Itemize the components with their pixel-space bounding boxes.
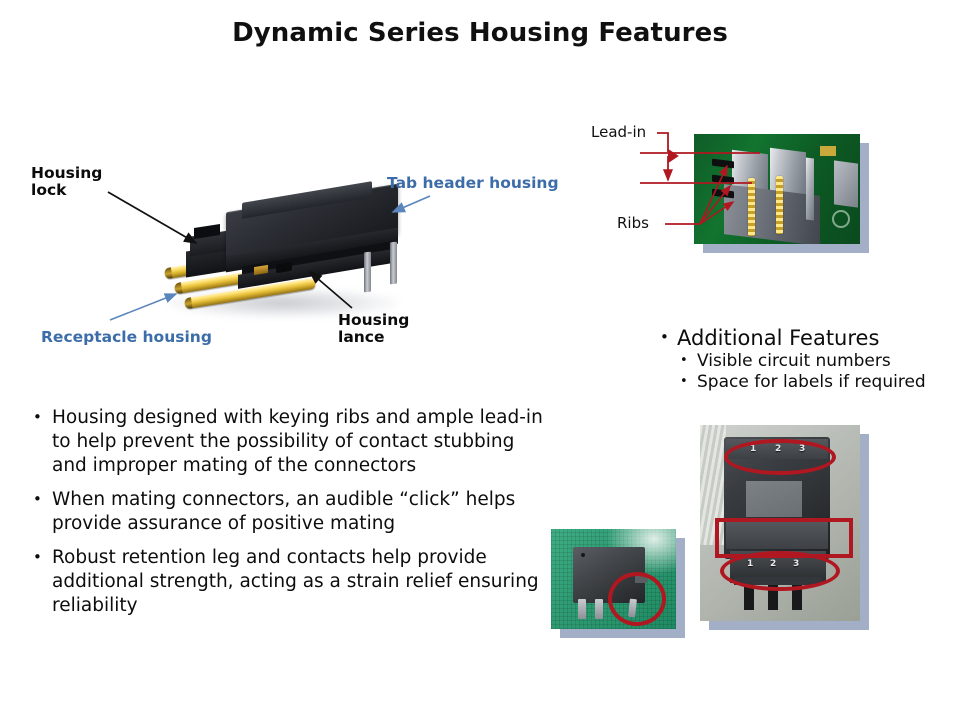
- slide-canvas: Dynamic Series Housing Features Housing …: [0, 0, 960, 720]
- photo-frame: [694, 134, 860, 244]
- annotation-ellipse-retention-leg: [608, 572, 666, 626]
- connector-dimple: [581, 553, 585, 557]
- label-housing-lock: Housing lock: [31, 165, 102, 199]
- photo-retention-leg: [551, 529, 676, 629]
- board-pad: [820, 146, 836, 156]
- retention-leg-1: [578, 599, 586, 619]
- retention-leg-2: [595, 599, 603, 619]
- retention-pin-2: [390, 242, 397, 285]
- header-wall: [806, 158, 814, 221]
- additional-features-item-1: Space for labels if required: [655, 372, 955, 393]
- annotation-ellipse-top-circuit-numbers: [724, 439, 836, 475]
- retention-pin-1: [364, 252, 371, 293]
- label-lead-in: Lead-in: [591, 124, 646, 141]
- photo-pcb-header: [694, 134, 860, 244]
- annotation-ellipse-bottom-circuit-numbers: [720, 551, 840, 591]
- gold-pin-column-2: [776, 176, 783, 234]
- page-title: Dynamic Series Housing Features: [0, 18, 960, 48]
- additional-features-heading: Additional Features: [655, 326, 955, 351]
- label-space-plate: [746, 481, 802, 517]
- gold-pin-column-1: [748, 178, 755, 236]
- additional-features-list: Additional Features Visible circuit numb…: [655, 326, 955, 393]
- body-bullet-list: Housing designed with keying ribs and am…: [25, 406, 545, 628]
- board-component: [834, 160, 858, 207]
- body-bullet-0: Housing designed with keying ribs and am…: [25, 406, 545, 478]
- photo-circuit-numbers: 1 2 3 1 2 3: [700, 425, 860, 621]
- label-tab-header-housing: Tab header housing: [387, 175, 559, 192]
- label-ribs: Ribs: [617, 215, 649, 232]
- silkscreen-mark: [832, 210, 850, 228]
- label-housing-lance: Housing lance: [338, 312, 409, 346]
- additional-features-item-0: Visible circuit numbers: [655, 351, 955, 372]
- body-bullet-1: When mating connectors, an audible “clic…: [25, 488, 545, 536]
- body-bullet-2: Robust retention leg and contacts help p…: [25, 546, 545, 618]
- label-receptacle-housing: Receptacle housing: [41, 329, 212, 346]
